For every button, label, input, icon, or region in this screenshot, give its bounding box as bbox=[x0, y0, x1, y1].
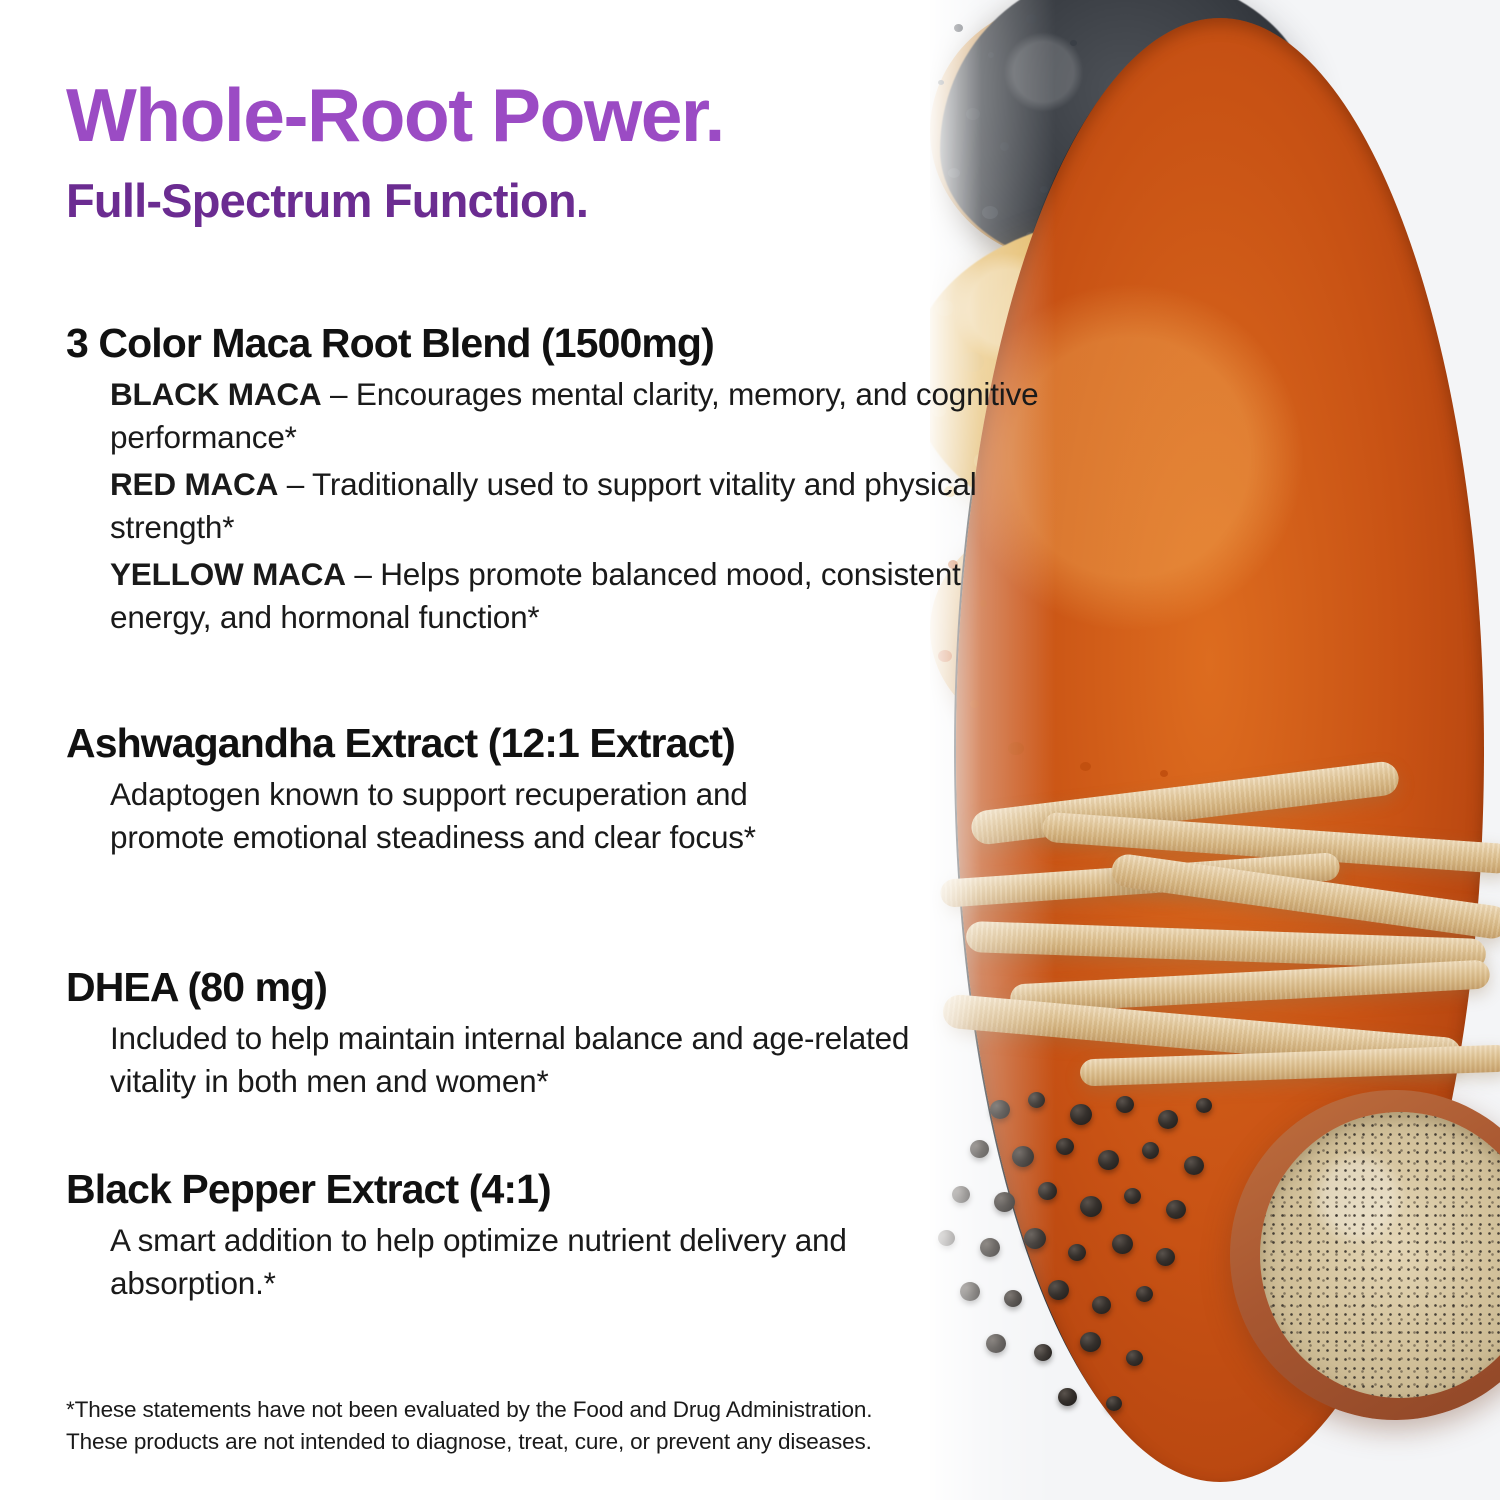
disclaimer-line-1: *These statements have not been evaluate… bbox=[66, 1394, 872, 1426]
page-subtitle: Full-Spectrum Function. bbox=[66, 177, 588, 224]
bullet-text: A smart addition to help optimize nutrie… bbox=[110, 1222, 847, 1301]
section-black-pepper: Black Pepper Extract (4:1) A smart addit… bbox=[66, 1168, 900, 1309]
disclaimer-line-2: These products are not intended to diagn… bbox=[66, 1426, 872, 1458]
infographic-canvas: Whole-Root Power. Full-Spectrum Function… bbox=[0, 0, 1500, 1500]
disclaimer: *These statements have not been evaluate… bbox=[66, 1394, 872, 1458]
bullet-text: Included to help maintain internal balan… bbox=[110, 1020, 909, 1099]
bullet-lead: YELLOW MACA bbox=[110, 556, 346, 592]
bullet-black-pepper: A smart addition to help optimize nutrie… bbox=[110, 1219, 900, 1304]
section-heading: 3 Color Maca Root Blend (1500mg) bbox=[66, 322, 1060, 365]
text-panel: Whole-Root Power. Full-Spectrum Function… bbox=[0, 0, 1060, 1500]
bullet-yellow-maca: YELLOW MACA – Helps promote balanced moo… bbox=[110, 553, 1060, 638]
section-heading: Ashwagandha Extract (12:1 Extract) bbox=[66, 722, 870, 765]
section-ashwagandha: Ashwagandha Extract (12:1 Extract) Adapt… bbox=[66, 722, 870, 863]
section-dhea: DHEA (80 mg) Included to help maintain i… bbox=[66, 966, 990, 1107]
bullet-text: Adaptogen known to support recuperation … bbox=[110, 776, 756, 855]
section-maca-blend: 3 Color Maca Root Blend (1500mg) BLACK M… bbox=[66, 322, 1060, 643]
bullet-ashwagandha: Adaptogen known to support recuperation … bbox=[110, 773, 870, 858]
bullet-black-maca: BLACK MACA – Encourages mental clarity, … bbox=[110, 373, 1060, 458]
section-body: Included to help maintain internal balan… bbox=[110, 1017, 990, 1102]
page-title: Whole-Root Power. bbox=[66, 78, 724, 153]
bullet-lead: RED MACA bbox=[110, 466, 278, 502]
bullet-lead: BLACK MACA bbox=[110, 376, 321, 412]
bullet-dhea: Included to help maintain internal balan… bbox=[110, 1017, 990, 1102]
section-body: Adaptogen known to support recuperation … bbox=[110, 773, 870, 858]
section-heading: DHEA (80 mg) bbox=[66, 966, 990, 1009]
section-body: A smart addition to help optimize nutrie… bbox=[110, 1219, 900, 1304]
section-heading: Black Pepper Extract (4:1) bbox=[66, 1168, 900, 1211]
section-body: BLACK MACA – Encourages mental clarity, … bbox=[110, 373, 1060, 638]
bullet-red-maca: RED MACA – Traditionally used to support… bbox=[110, 463, 1060, 548]
